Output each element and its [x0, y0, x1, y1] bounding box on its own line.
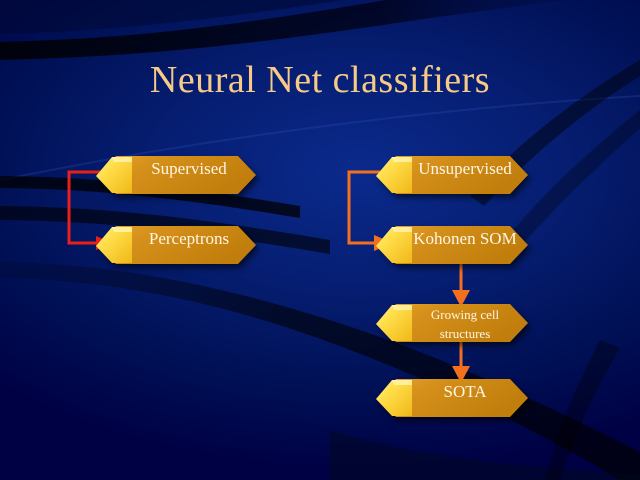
- banner-shape: [372, 222, 532, 268]
- banner-shape: [372, 152, 532, 198]
- node-supervised[interactable]: Supervised: [92, 152, 260, 198]
- node-perceptrons[interactable]: Perceptrons: [92, 222, 260, 268]
- banner-shape: [372, 375, 532, 421]
- banner-shape: [92, 222, 260, 268]
- node-sota[interactable]: SOTA: [372, 375, 532, 421]
- slide-canvas: Neural Net classifiers: [0, 0, 640, 480]
- node-growing-cell-structures[interactable]: Growing cell structures: [372, 300, 532, 346]
- node-kohonen-som[interactable]: Kohonen SOM: [372, 222, 532, 268]
- banner-shape: [92, 152, 260, 198]
- node-unsupervised[interactable]: Unsupervised: [372, 152, 532, 198]
- slide-title: Neural Net classifiers: [0, 58, 640, 102]
- banner-shape: [372, 300, 532, 346]
